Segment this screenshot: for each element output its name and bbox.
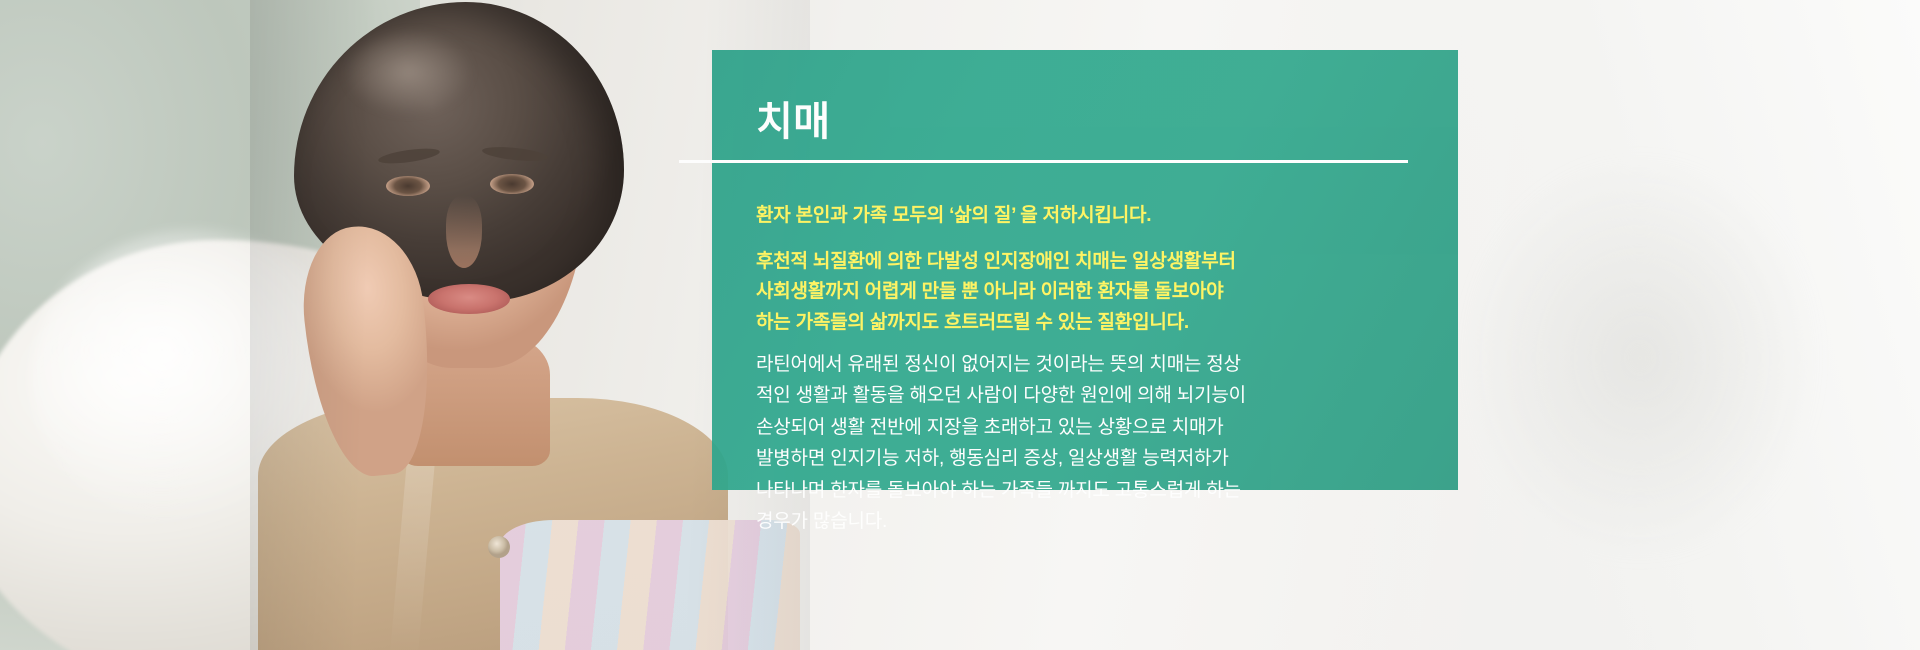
- title-divider: [679, 160, 1408, 163]
- content-panel: 치매 환자 본인과 가족 모두의 ‘삶의 질’ 을 저하시킵니다. 후천적 뇌질…: [712, 50, 1458, 490]
- description-line: 손상되어 생활 전반에 지장을 초래하고 있는 상황으로 치매가: [756, 412, 1416, 444]
- page-title: 치매: [756, 102, 831, 142]
- accent-line: 사회생활까지 어렵게 만들 뿐 아니라 이러한 환자를 돌보아야: [756, 277, 1416, 308]
- description-line: 경우가 많습니다.: [756, 506, 1416, 538]
- dementia-info-banner: 치매 환자 본인과 가족 모두의 ‘삶의 질’ 을 저하시킵니다. 후천적 뇌질…: [0, 0, 1920, 650]
- subject-scarf: [500, 520, 800, 650]
- description-line: 발병하면 인지기능 저하, 행동심리 증상, 일상생활 능력저하가: [756, 443, 1416, 475]
- subject-cardigan-button: [488, 536, 510, 558]
- accent-line: 하는 가족들의 삶까지도 흐트러뜨릴 수 있는 질환입니다.: [756, 308, 1416, 339]
- subject-eye-left: [386, 176, 430, 196]
- subject-nose: [446, 196, 482, 268]
- accent-line: 후천적 뇌질환에 의한 다발성 인지장애인 치매는 일상생활부터: [756, 247, 1416, 278]
- lead-statement: 환자 본인과 가족 모두의 ‘삶의 질’ 을 저하시킵니다.: [756, 202, 1416, 231]
- accent-paragraph: 후천적 뇌질환에 의한 다발성 인지장애인 치매는 일상생활부터 사회생활까지 …: [756, 247, 1416, 339]
- description-line: 나타나며 한자를 돌보아야 하는 가족들 까지도 고통스럽게 하는: [756, 475, 1416, 507]
- description-line: 라틴어에서 유래된 정신이 없어지는 것이라는 뜻의 치매는 정상: [756, 349, 1416, 381]
- subject-hair-highlight: [336, 30, 516, 150]
- subject-lips: [428, 284, 510, 314]
- body-text-block: 환자 본인과 가족 모두의 ‘삶의 질’ 을 저하시킵니다. 후천적 뇌질환에 …: [756, 202, 1416, 538]
- description-line: 적인 생활과 활동을 해오던 사람이 다양한 원인에 의해 뇌기능이: [756, 380, 1416, 412]
- subject-eye-right: [490, 174, 534, 194]
- photo-right-shadow: [1430, 150, 1850, 650]
- content-panel-inner: 치매 환자 본인과 가족 모두의 ‘삶의 질’ 을 저하시킵니다. 후천적 뇌질…: [712, 50, 1458, 490]
- description-paragraph: 라틴어에서 유래된 정신이 없어지는 것이라는 뜻의 치매는 정상 적인 생활과…: [756, 349, 1416, 538]
